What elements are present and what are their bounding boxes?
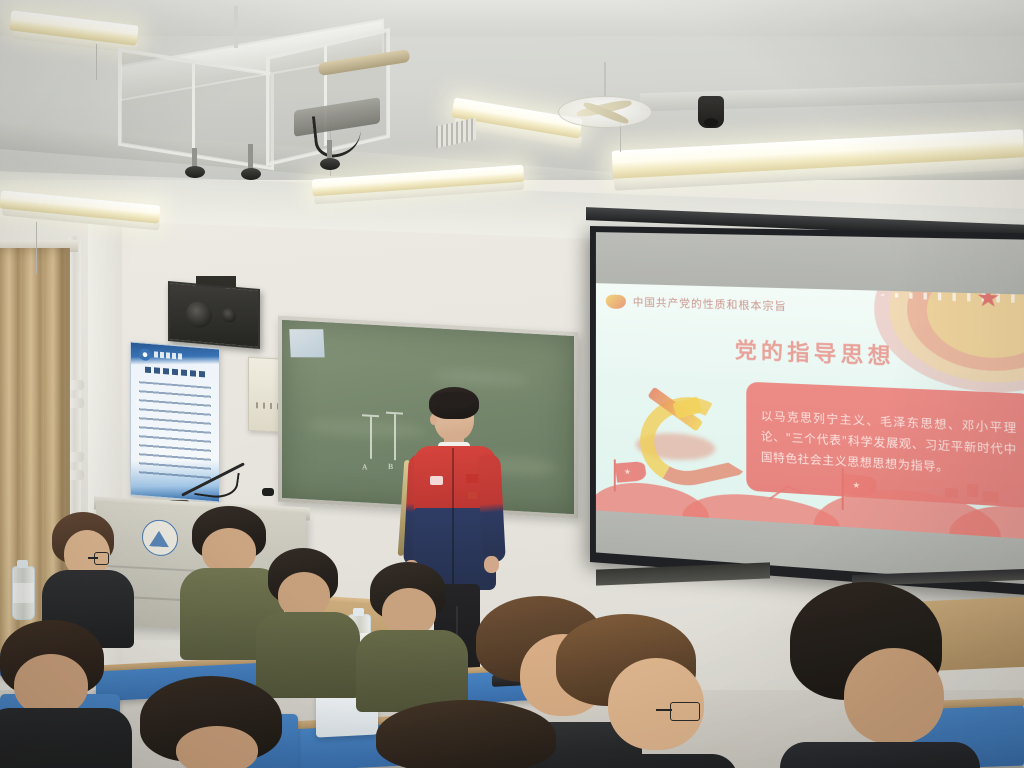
student [264,548,350,692]
student-torso [0,708,132,768]
bottle-label [13,583,34,603]
student [366,562,458,702]
student [556,614,724,768]
wall-speaker [168,281,260,349]
cage-foot-pad [320,158,340,170]
student-head [176,726,258,768]
presenter-right-hand [484,556,499,573]
bottle-cap [17,560,28,568]
flag-patch-icon [466,474,479,483]
ceiling-fan[interactable] [558,96,650,130]
student-head [14,654,88,716]
water-bottle [12,566,35,620]
header-badge-icon [606,294,626,309]
bottle-cap [353,608,364,616]
jacket-brand-logo-icon [430,476,443,485]
cable-plug [262,488,274,496]
student [376,700,566,768]
chalk-letter: ᴀ [362,460,368,472]
student-torso [780,742,980,768]
cage-mullion [192,64,195,156]
seal-inner-shape [149,530,169,547]
student [0,620,118,768]
fan-stem [604,62,606,98]
cage-foot-pad [185,166,205,178]
pinned-paper [289,329,324,357]
projector-cable [312,112,363,160]
glasses-bridge [88,557,98,559]
cage-hanger-rod [234,6,238,48]
flag-icon: ★ [614,460,648,496]
speaker-tweeter-icon [222,308,236,323]
student-head [382,588,436,636]
classroom-photo: ᴀ ʙ ★ 中国共产党的性质和根本宗旨 党的指导 [0,0,1024,768]
chalk-stroke [362,414,379,417]
presenter-hair-fringe [432,392,476,408]
glasses-temple [656,709,672,711]
projection-screen-frame: ★ 中国共产党的性质和根本宗旨 党的指导思想 以马克思列宁主义、毛泽东思想、邓小… [590,226,1024,597]
chalk-letter: ʙ [388,460,393,472]
presenter-right-arm [477,453,506,562]
university-logo-icon [139,348,151,361]
presentation-slide: ★ 中国共产党的性质和根本宗旨 党的指导思想 以马克思列宁主义、毛泽东思想、邓小… [596,283,1024,541]
student-head [844,648,944,744]
ceiling-slab [0,0,1024,36]
slide-header: 中国共产党的性质和根本宗旨 [606,294,787,315]
student-torso [542,754,738,768]
chalk-stroke [394,414,396,460]
camera-lens [704,118,718,127]
poster-title-text [145,367,205,378]
jacket-emblem-icon [468,492,477,499]
student-hair [376,700,556,768]
student [140,676,300,768]
light-hanger-wire [96,44,97,80]
projection-screen: ★ 中国共产党的性质和根本宗旨 党的指导思想 以马克思列宁主义、毛泽东思想、邓小… [596,232,1024,586]
student [790,582,966,768]
poster-logo-text [154,351,184,359]
flag-icon: ★ [842,469,879,513]
university-seal-icon [142,519,178,557]
speaker-woofer-icon [186,301,212,329]
cage-foot-post [248,144,253,170]
light-hanger-wire [36,222,37,274]
glasses-icon [670,702,700,721]
slide-header-text: 中国共产党的性质和根本宗旨 [633,294,787,314]
chalk-stroke [370,417,372,459]
cage-foot-pad [241,168,261,180]
security-camera-icon [698,96,724,128]
